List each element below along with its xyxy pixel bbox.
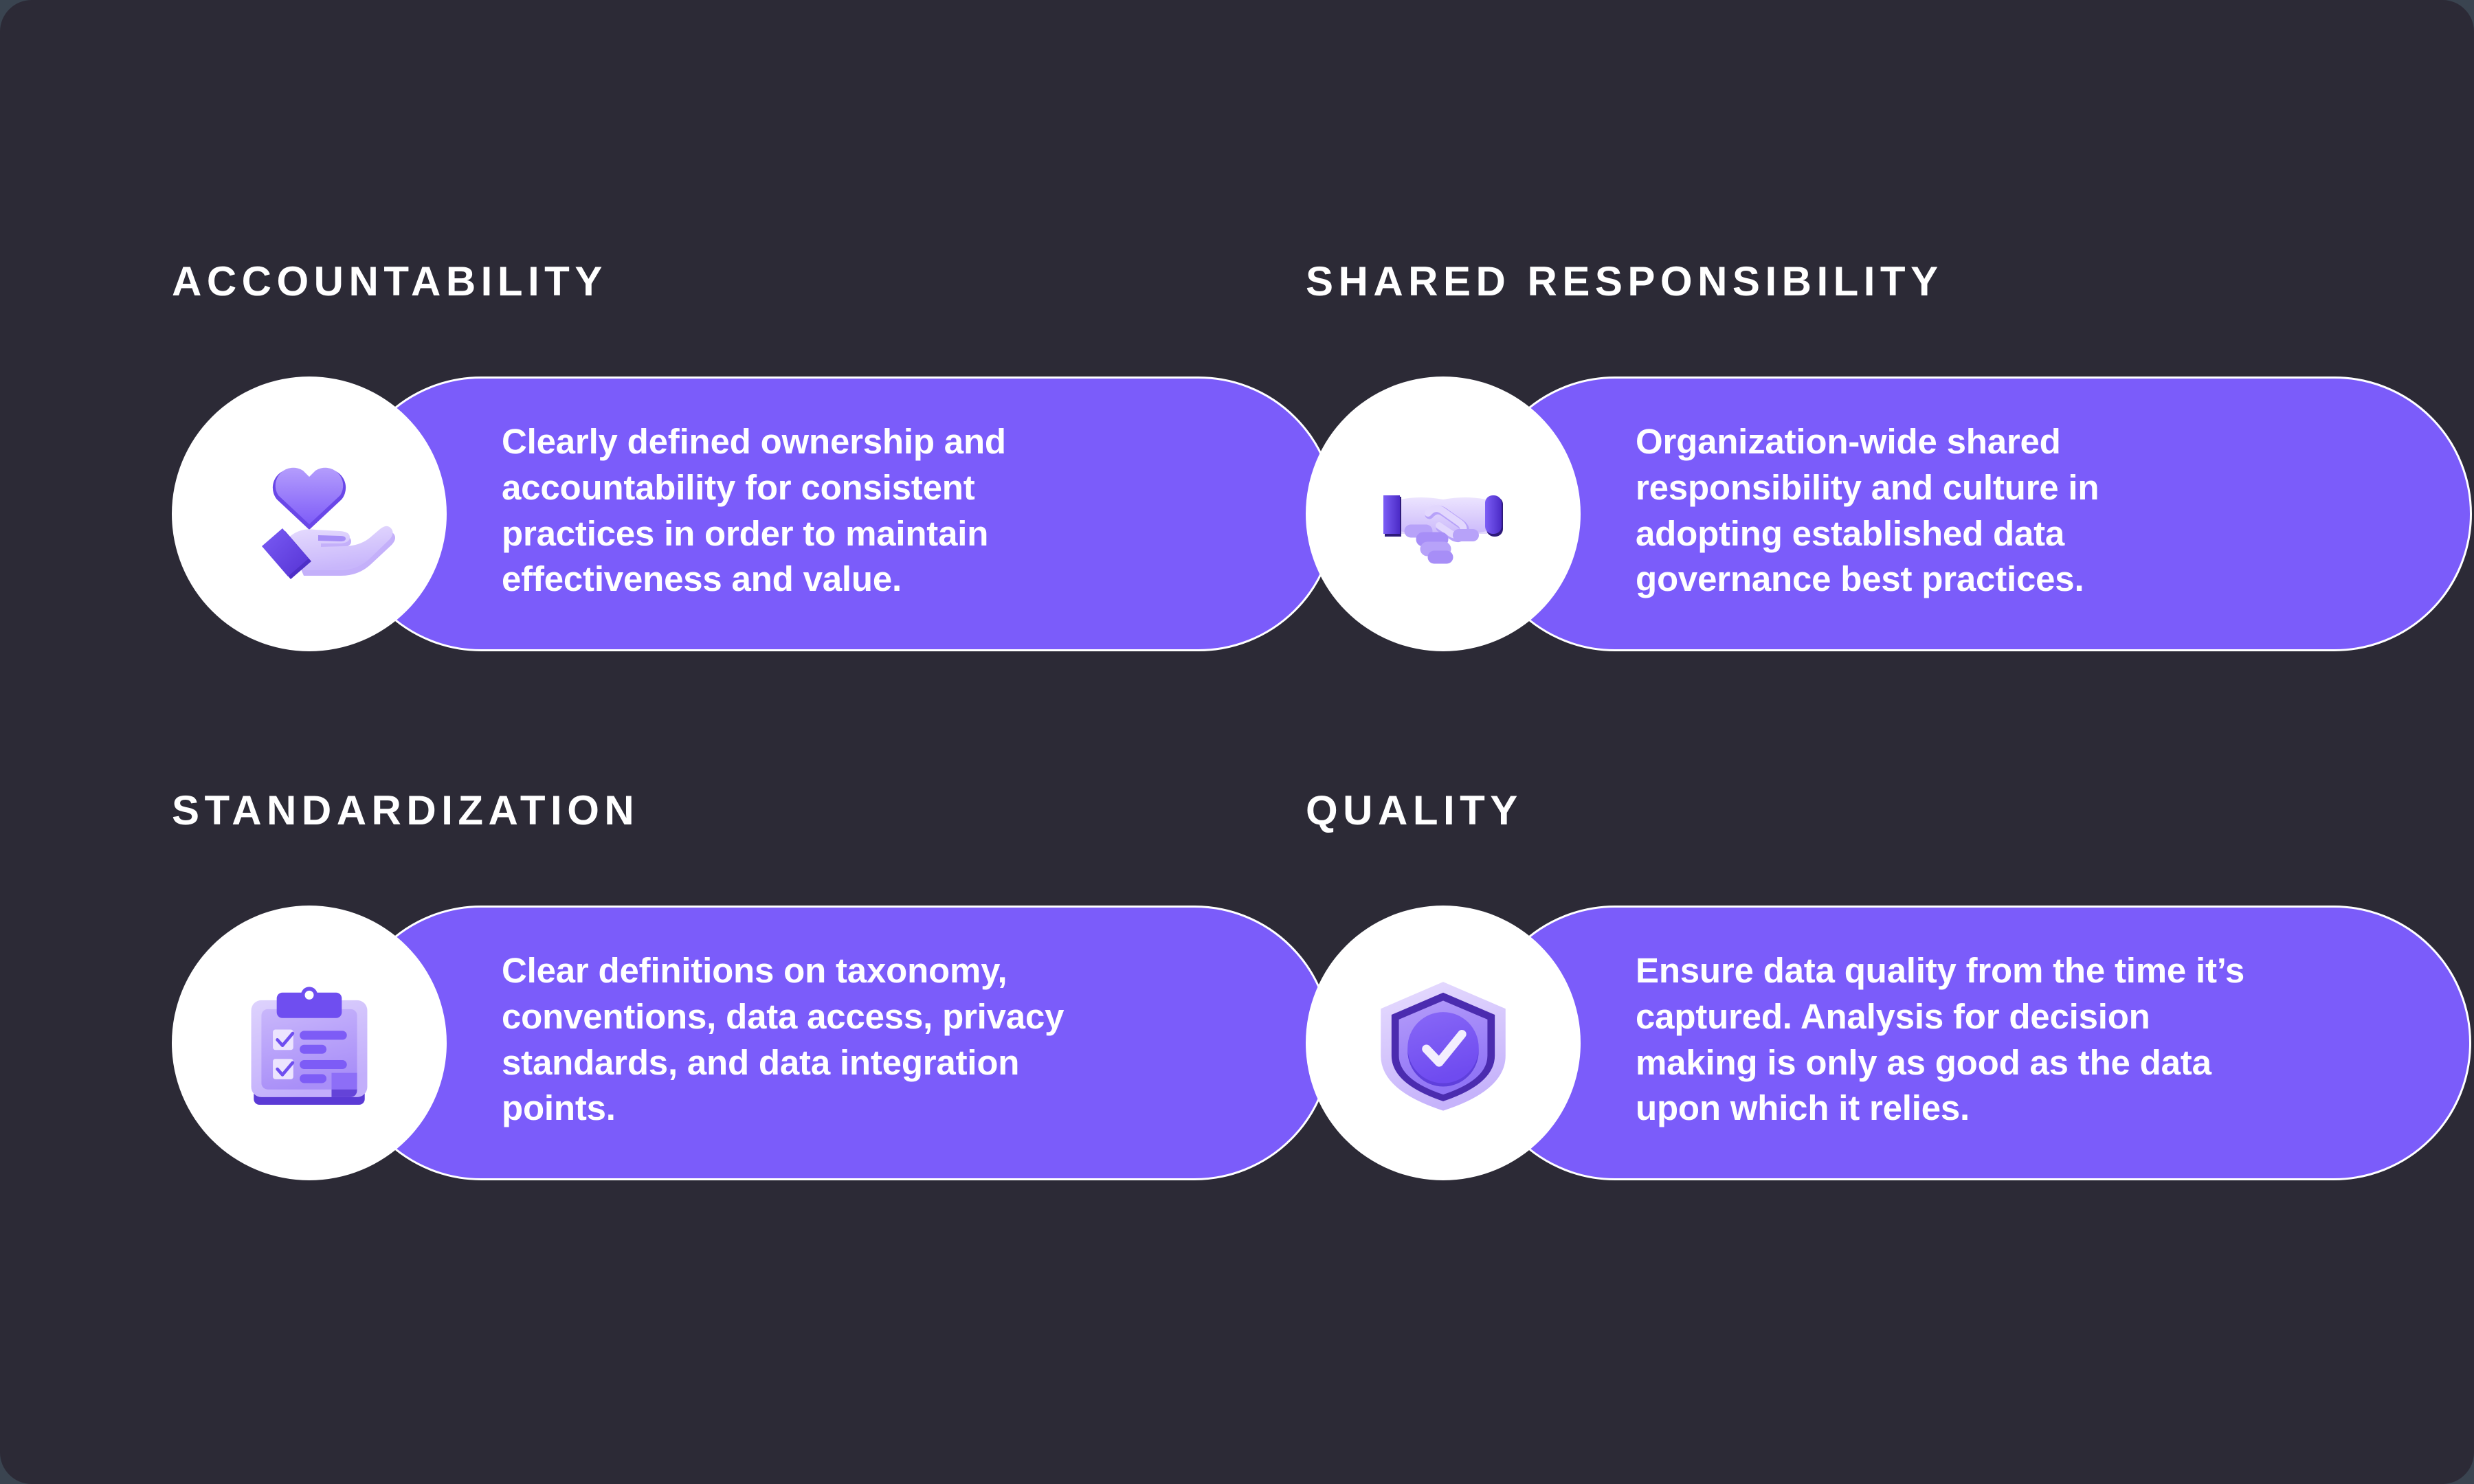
card-heading: ACCOUNTABILITY <box>172 261 608 302</box>
principles-grid: ACCOUNTABILITY Clearly defined ownership… <box>0 0 2474 1484</box>
card-heading: STANDARDIZATION <box>172 790 639 831</box>
card-body-text: Organization-wide shared responsibility … <box>1636 419 2240 603</box>
handshake-icon <box>1357 428 1529 600</box>
shield-check-icon <box>1359 959 1527 1127</box>
heart-in-hand-icon <box>223 428 395 600</box>
card-icon-circle <box>1306 906 1581 1180</box>
card-body-text: Clear definitions on taxonomy, conventio… <box>502 948 1120 1132</box>
card-heading: QUALITY <box>1306 790 1523 831</box>
card-body-text: Clearly defined ownership and accountabi… <box>502 419 1120 603</box>
clipboard-checklist-icon <box>230 963 389 1123</box>
card-icon-circle <box>172 376 447 651</box>
card-body-text: Ensure data quality from the time it’s c… <box>1636 948 2247 1132</box>
infographic-canvas: ACCOUNTABILITY Clearly defined ownership… <box>0 0 2474 1484</box>
card-icon-circle <box>172 906 447 1180</box>
card-icon-circle <box>1306 376 1581 651</box>
card-heading: SHARED RESPONSIBILITY <box>1306 261 1943 302</box>
